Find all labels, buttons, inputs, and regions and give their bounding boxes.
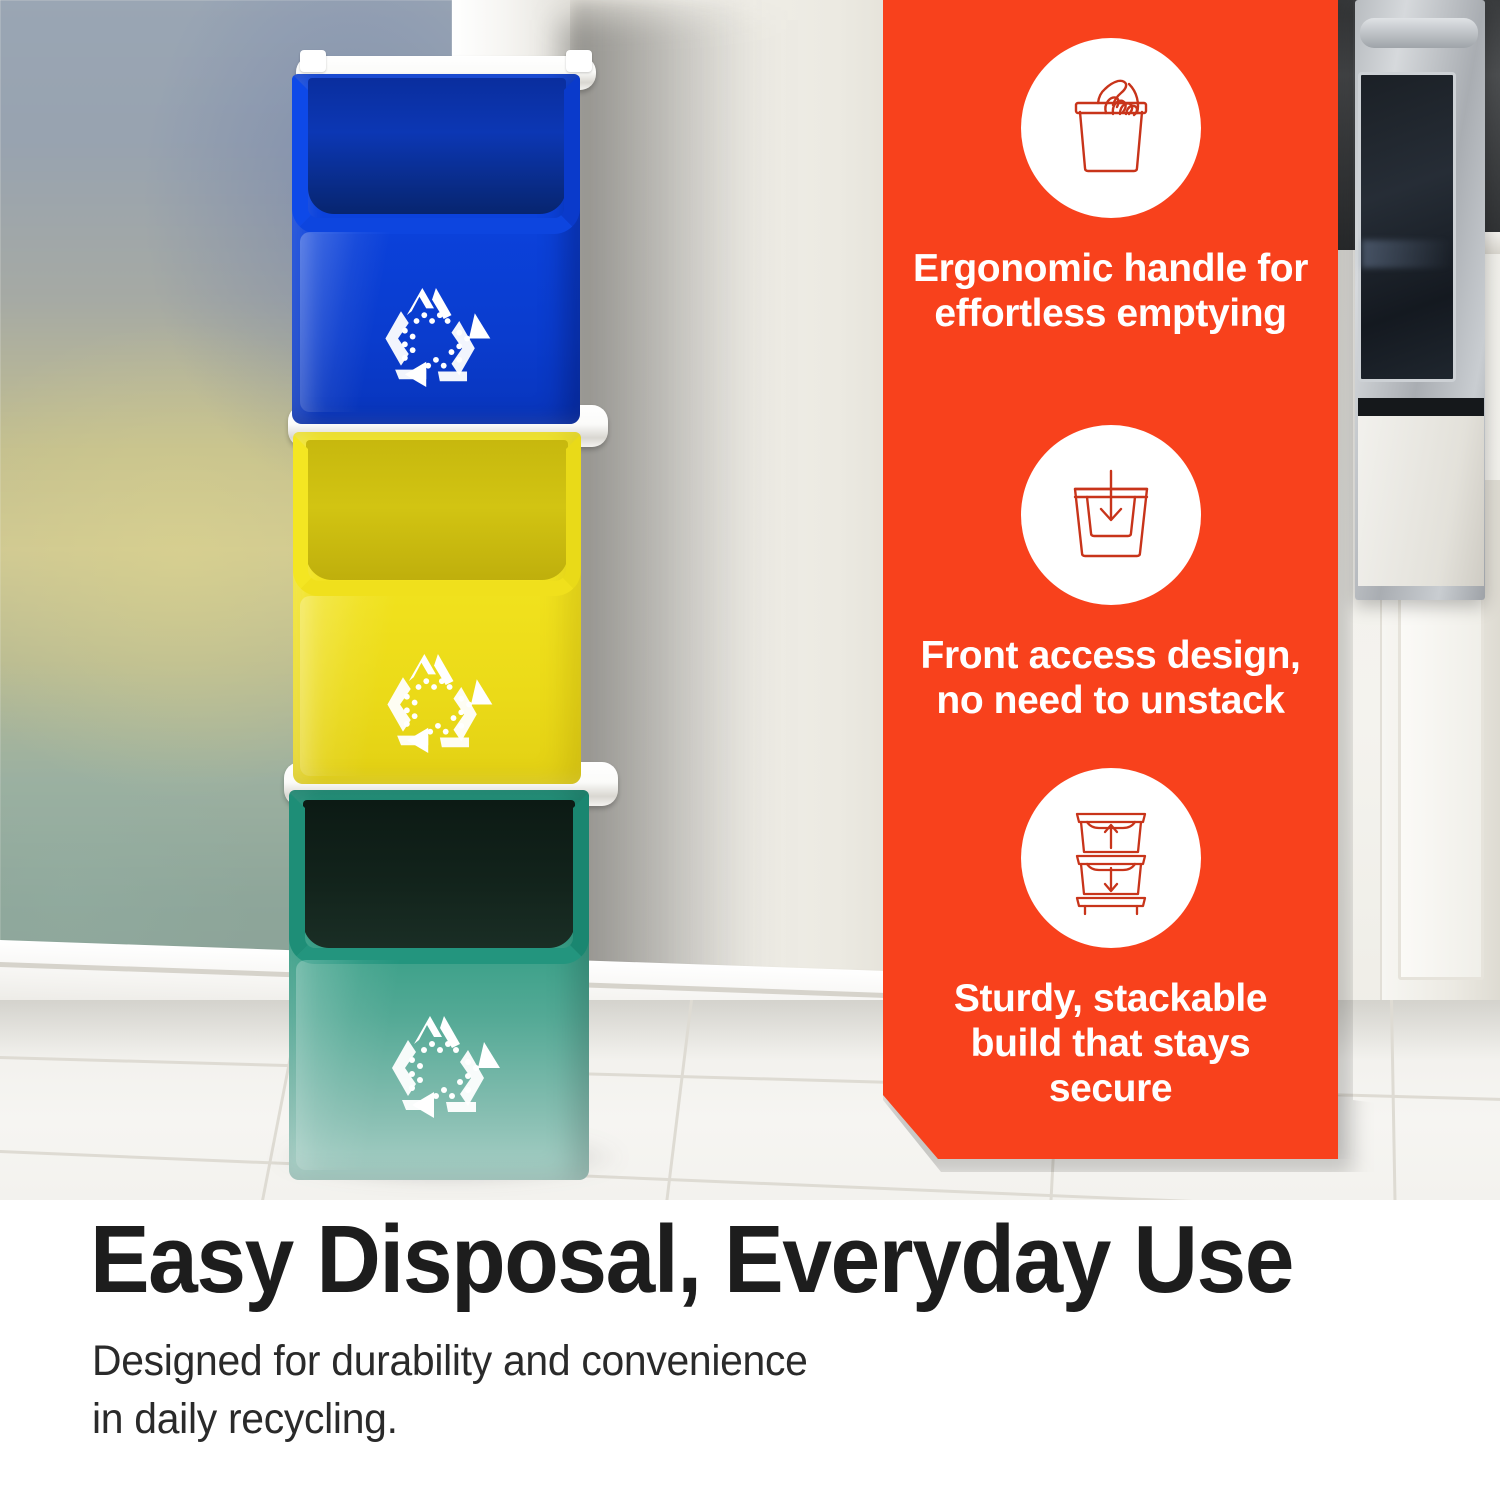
stacked-bins-arrows-icon (1051, 798, 1171, 918)
bin-down-arrow-icon (1051, 455, 1171, 575)
subheadline-line-1: Designed for durability and convenience (92, 1332, 1137, 1390)
subheadline-line-2: in daily recycling. (92, 1390, 1137, 1448)
oven-gap (1358, 398, 1484, 416)
feature-label: Front access design, no need to unstack (883, 633, 1338, 723)
feature-item-ergonomic-handle: Ergonomic handle for effortless emptying (883, 38, 1338, 336)
recycling-symbol-icon (368, 648, 504, 760)
bin-blue-stack-tab-right (566, 50, 592, 72)
feature-item-sturdy-stackable: Sturdy, stackable build that stays secur… (883, 768, 1338, 1112)
feature-icon-circle (1021, 768, 1201, 948)
recycling-symbol-icon (372, 1010, 512, 1125)
page-subheadline: Designed for durability and convenience … (92, 1332, 1137, 1449)
wall-cast-shadow (560, 20, 790, 1030)
feature-panel: Ergonomic handle for effortless emptying (883, 0, 1338, 1159)
feature-item-front-access: Front access design, no need to unstack (883, 425, 1338, 723)
bin-blue-stack-tab-left (300, 50, 326, 72)
marketing-image-stage: Ergonomic handle for effortless emptying (0, 0, 1500, 1500)
bin-green-lip (289, 792, 589, 964)
oven-glass-window (1358, 72, 1456, 382)
oven-glass-reflection (1362, 240, 1452, 268)
hand-grip-bin-handle-icon (1051, 68, 1171, 188)
recycling-symbol-icon (366, 282, 502, 394)
oven-lower-drawer (1358, 416, 1484, 586)
feature-label: Ergonomic handle for effortless emptying (883, 246, 1338, 336)
bin-yellow-lip (293, 434, 581, 596)
feature-icon-circle (1021, 425, 1201, 605)
oven-handle (1360, 18, 1478, 48)
feature-label: Sturdy, stackable build that stays secur… (883, 976, 1338, 1112)
bin-blue-lip (292, 74, 580, 234)
feature-icon-circle (1021, 38, 1201, 218)
cabinet-panel (1398, 560, 1484, 980)
page-headline: Easy Disposal, Everyday Use (90, 1212, 1318, 1308)
